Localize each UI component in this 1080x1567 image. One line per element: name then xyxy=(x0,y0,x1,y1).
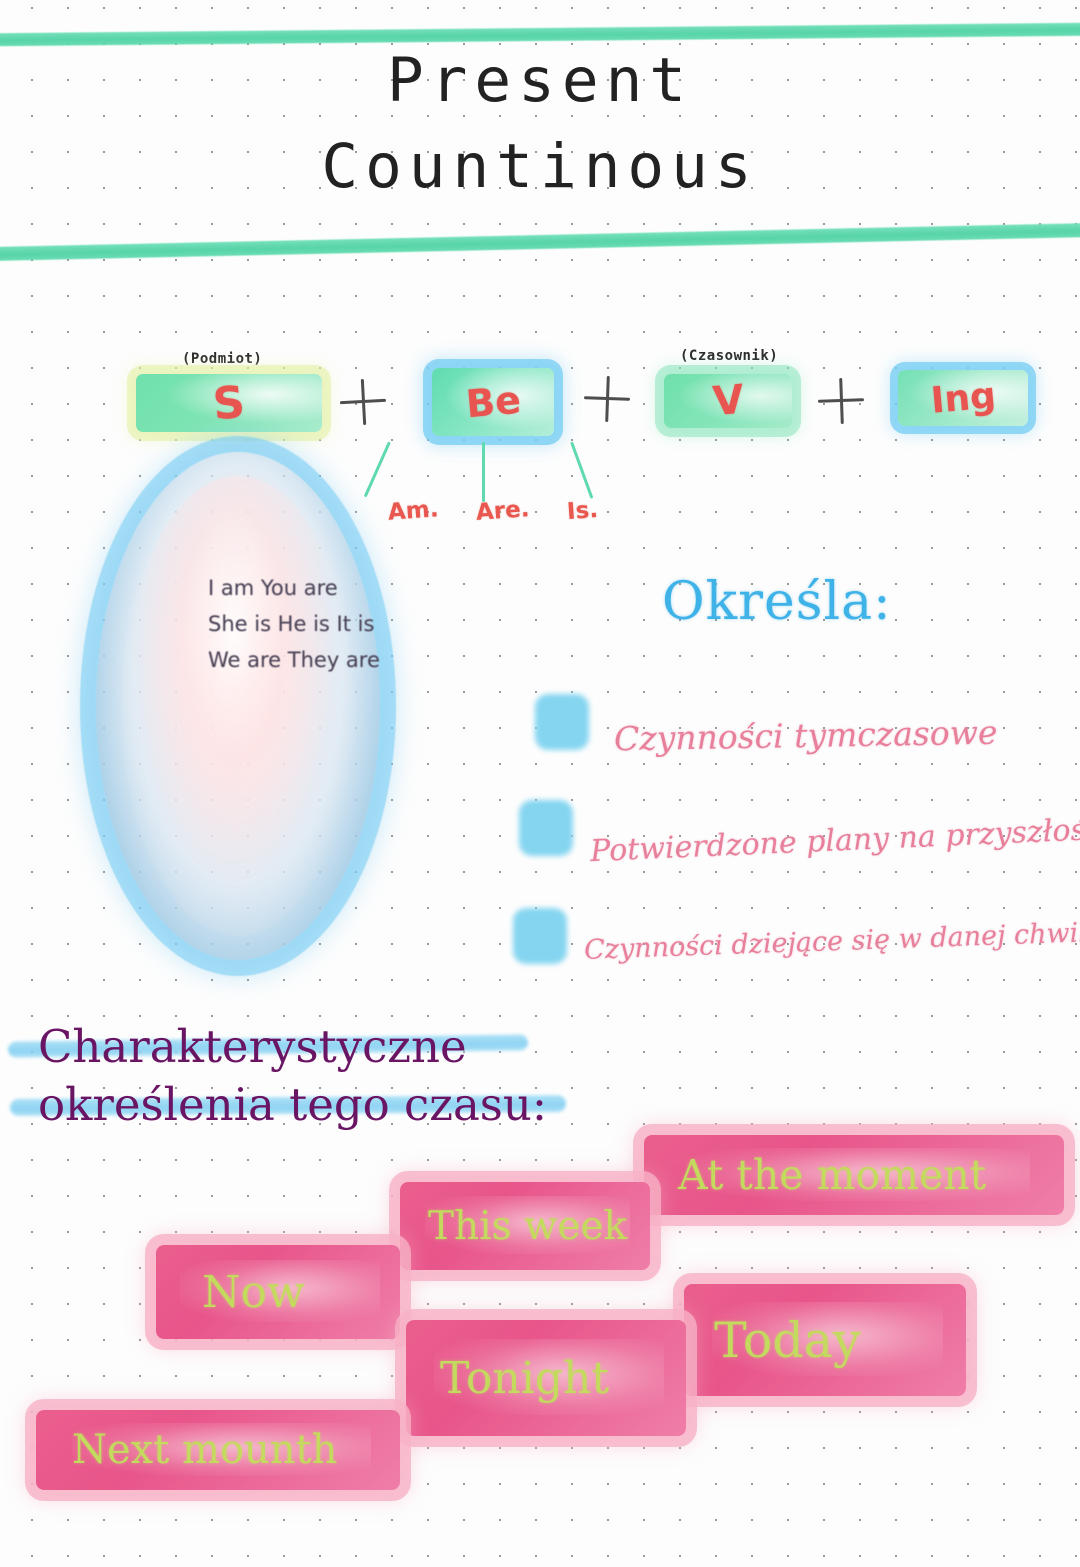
time-expression-box-at-the-moment: At the moment xyxy=(644,1135,1064,1215)
time-expression-box-now: Now xyxy=(156,1245,400,1339)
be-box: Be xyxy=(432,368,554,436)
time-expression-box-next-mounth: Next mounth xyxy=(36,1410,400,1490)
okresla-item-2: Potwierdzone plany na przyszłość xyxy=(589,812,1080,869)
okresla-item-1: Czynności tymczasowe xyxy=(614,713,998,759)
bullet-square-1 xyxy=(535,694,589,750)
page-title: Present Countinous xyxy=(0,38,1080,210)
time-expression-label: This week xyxy=(428,1204,627,1249)
time-expression-label: Today xyxy=(714,1312,861,1369)
bottom-highlight-bar xyxy=(0,223,1080,261)
branch-line-right xyxy=(570,441,593,498)
bullet-square-2 xyxy=(519,800,573,856)
ing-box: Ing xyxy=(898,370,1028,426)
time-expression-label: Tonight xyxy=(440,1353,609,1404)
be-forms-list: Am. Are. Is. xyxy=(388,498,598,524)
okresla-item-3: Czynności dziejące się w danej chwili xyxy=(584,917,1080,966)
plus-operator-1 xyxy=(339,378,387,426)
time-expression-box-tonight: Tonight xyxy=(406,1320,686,1436)
be-form-is: Is. xyxy=(566,497,599,525)
pronoun-list: I am You are She is He is It is We are T… xyxy=(96,570,380,678)
ing-glyph: Ing xyxy=(929,375,997,421)
time-expression-box-this-week: This week xyxy=(400,1182,650,1270)
okresla-heading: Określa: xyxy=(662,572,892,632)
be-glyph: Be xyxy=(464,378,522,427)
subject-glyph: S xyxy=(211,376,247,430)
study-notes-page: Present Countinous (Podmiot) S Be (Czaso… xyxy=(0,0,1080,1567)
be-form-am: Am. xyxy=(387,496,439,525)
time-expression-label: Now xyxy=(202,1267,305,1318)
time-expression-label: At the moment xyxy=(678,1151,986,1199)
subject-label: (Podmiot) xyxy=(182,351,262,367)
branch-line-middle xyxy=(482,442,485,502)
verb-box: V xyxy=(664,374,792,428)
time-expression-box-today: Today xyxy=(684,1284,966,1396)
verb-label: (Czasownik) xyxy=(680,348,778,364)
charakterystyczne-heading: Charakterystyczne określenia tego czasu: xyxy=(38,1018,618,1134)
pronoun-oval: I am You are She is He is It is We are T… xyxy=(96,452,380,960)
subject-box: S xyxy=(136,374,322,432)
time-expression-label: Next mounth xyxy=(72,1427,337,1473)
bullet-square-3 xyxy=(513,908,567,964)
plus-operator-2 xyxy=(583,375,631,423)
be-form-are: Are. xyxy=(475,496,530,526)
plus-operator-3 xyxy=(817,377,865,425)
pronoun-oval-inner xyxy=(122,476,354,936)
verb-glyph: V xyxy=(711,377,746,426)
